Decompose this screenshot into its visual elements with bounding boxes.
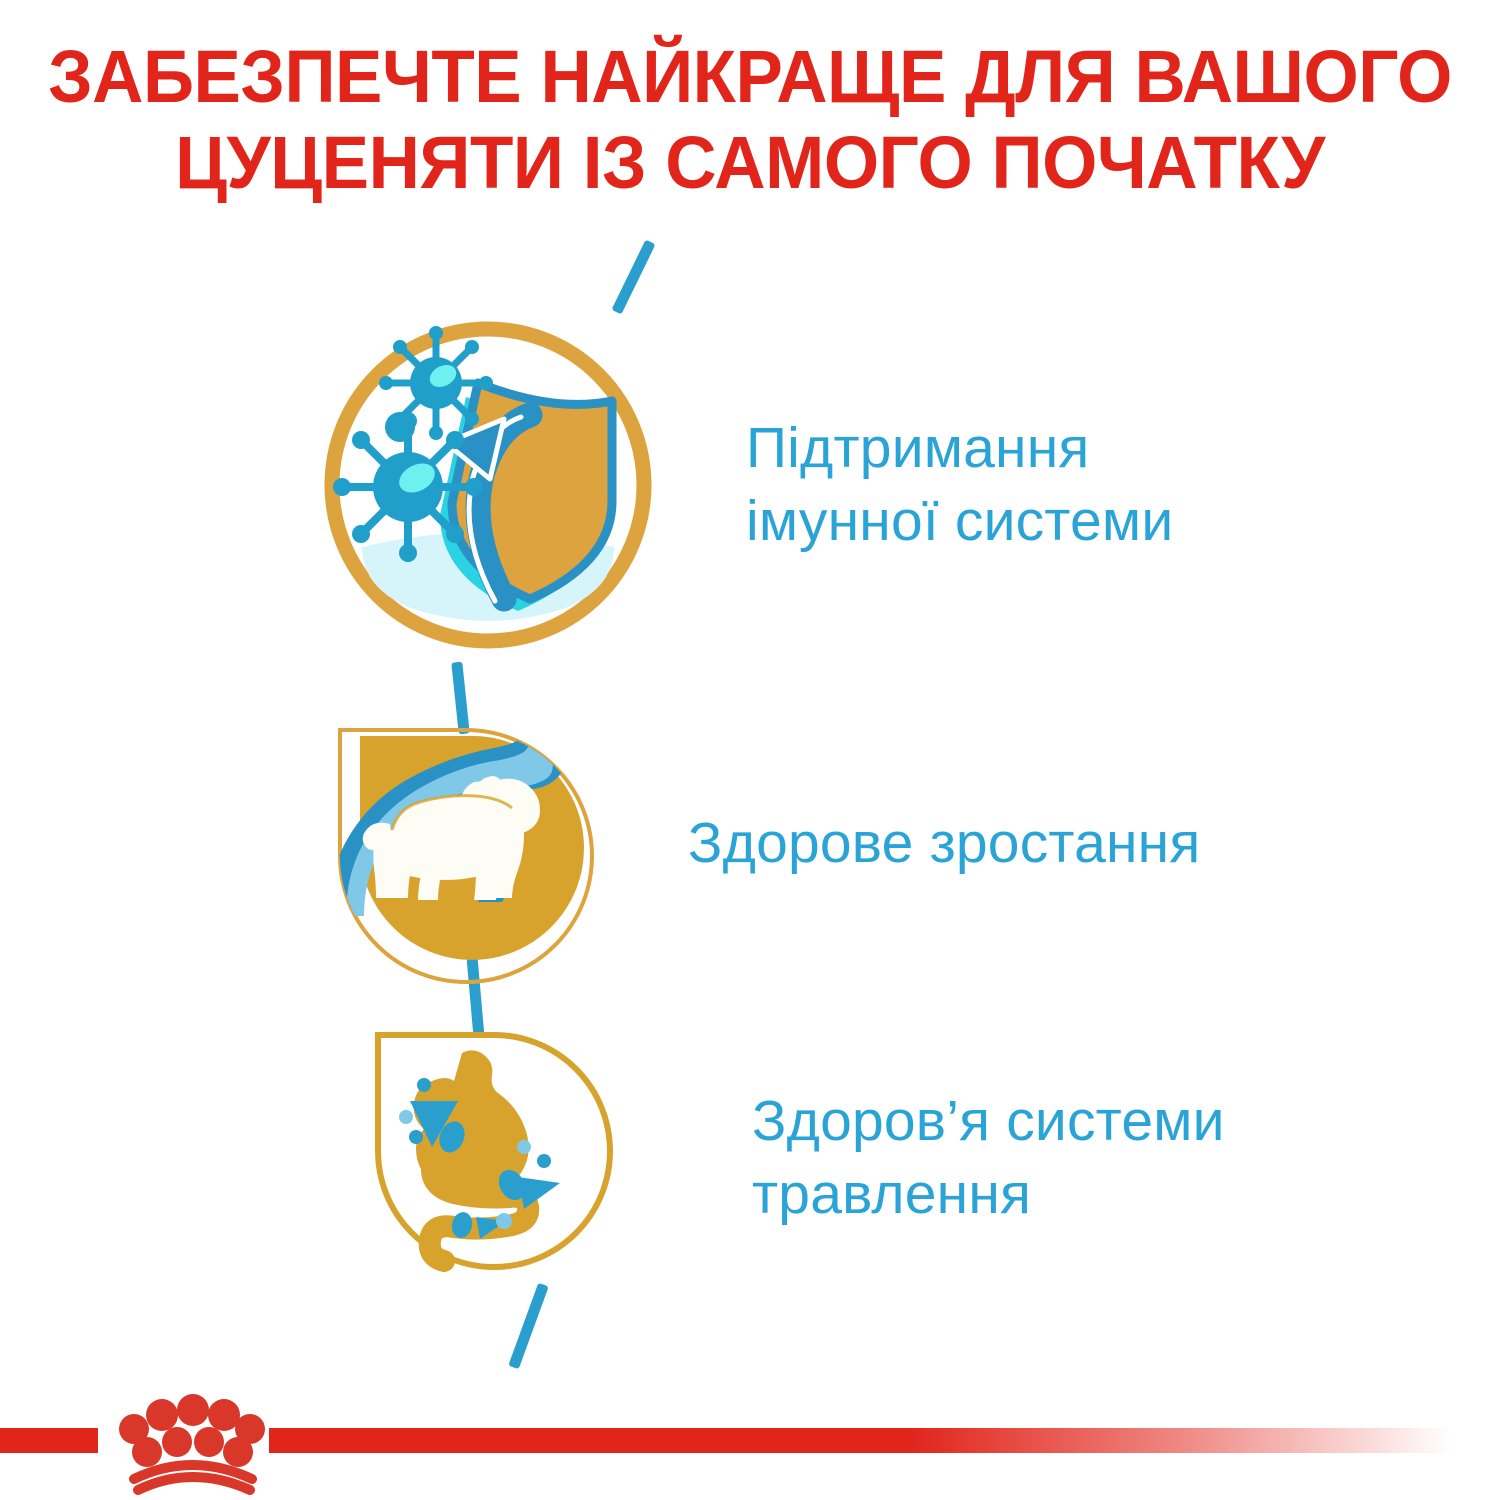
- footer: [0, 1395, 1500, 1500]
- benefit-row-immune-support: Підтримання імунної системи: [318, 315, 1173, 655]
- immune-shield-virus-icon: [318, 315, 658, 655]
- benefit-label-digestive-health: Здоров’я системи травлення: [752, 1085, 1225, 1231]
- poster-root: ЗАБЕЗПЕЧТЕ НАЙКРАЩЕ ДЛЯ ВАШОГО ЦУЦЕНЯТИ …: [0, 0, 1500, 1500]
- benefit-row-healthy-growth: Здорове зростання: [318, 718, 1200, 968]
- royal-canin-crown-logo: [100, 1395, 270, 1490]
- footer-rule-left: [0, 1428, 98, 1453]
- benefit-row-digestive-health: Здоров’я системи травлення: [318, 1025, 1225, 1290]
- benefits-list: Підтримання імунної системи: [0, 0, 1500, 1500]
- benefit-label-immune-support: Підтримання імунної системи: [746, 412, 1173, 558]
- benefit-label-healthy-growth: Здорове зростання: [688, 807, 1200, 880]
- puppy-growth-icon: [326, 718, 666, 968]
- digestive-stomach-icon: [366, 1025, 706, 1290]
- footer-rule-right: [269, 1428, 1500, 1453]
